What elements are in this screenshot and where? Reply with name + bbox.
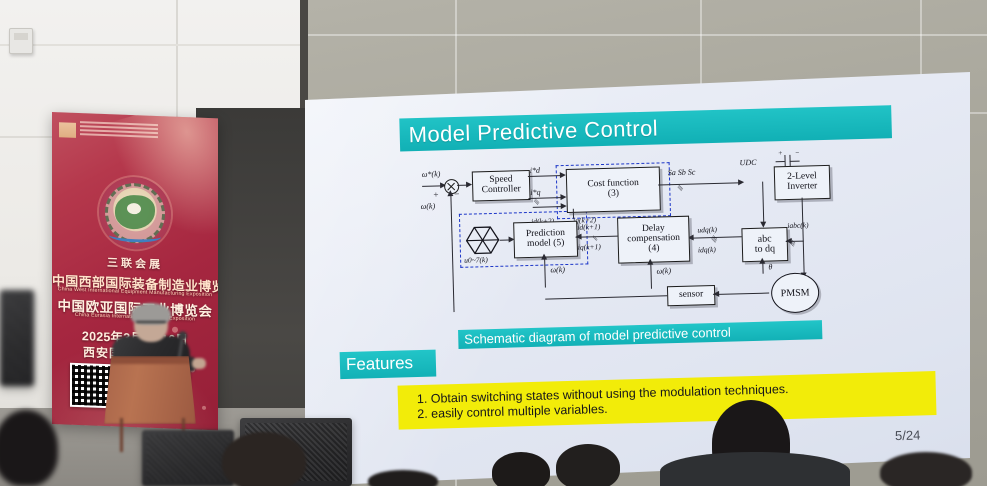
wire bbox=[650, 261, 652, 289]
audience-head bbox=[556, 444, 620, 486]
features-header-bar: Features bbox=[340, 350, 437, 380]
arrow-icon bbox=[647, 259, 653, 265]
block-cost-function: Cost function (3) bbox=[566, 166, 661, 213]
diagram-caption: Schematic diagram of model predictive co… bbox=[464, 325, 731, 347]
features-highlight-box: 1. Obtain switching states without using… bbox=[398, 371, 937, 430]
slide-title-bar: Model Predictive Control bbox=[399, 105, 892, 151]
audience-head bbox=[222, 432, 306, 486]
ufi-caption-lines bbox=[80, 121, 158, 140]
label-iq-pred: iq(k+1) bbox=[578, 242, 601, 252]
wire bbox=[545, 295, 667, 300]
podium bbox=[104, 356, 196, 424]
block-speed-controller: Speed Controller bbox=[472, 170, 531, 202]
banner-bokeh bbox=[202, 406, 206, 410]
label-omega-pred: ω(k) bbox=[550, 265, 565, 274]
wire bbox=[658, 182, 742, 186]
voltage-vector-hexagon-icon bbox=[465, 225, 500, 256]
label-id-pred: id(k+1) bbox=[577, 222, 600, 232]
presenter-glasses bbox=[136, 321, 166, 330]
block-sensor: sensor bbox=[667, 285, 716, 306]
arrow-icon bbox=[786, 237, 792, 243]
presenter-hand bbox=[192, 358, 206, 369]
label-id-ref: i*d bbox=[530, 166, 540, 175]
block-2-level-inverter: 2-Level Inverter bbox=[774, 165, 831, 201]
arrow-icon bbox=[713, 290, 719, 296]
podium-leg bbox=[120, 418, 123, 452]
label-u-dq: udq(k) bbox=[697, 225, 717, 235]
wire bbox=[450, 192, 455, 312]
podium-top bbox=[100, 356, 200, 364]
label-omega-delay: ω(k) bbox=[656, 266, 671, 275]
slide-title: Model Predictive Control bbox=[408, 115, 658, 148]
label-speed-feedback: ω(k) bbox=[421, 202, 436, 211]
page-indicator: 5/24 bbox=[895, 427, 921, 443]
label-plus-sign: + bbox=[433, 189, 438, 199]
audience-head bbox=[492, 452, 550, 486]
ufi-mark-icon bbox=[59, 122, 76, 138]
wire bbox=[802, 198, 805, 278]
wall-sensor-box bbox=[9, 28, 33, 54]
label-voltage-vectors: u0~7(k) bbox=[464, 255, 488, 265]
audience-shoulders bbox=[660, 452, 850, 486]
label-speed-ref: ω*(k) bbox=[422, 169, 441, 178]
label-i-dq: idq(k) bbox=[698, 245, 716, 254]
label-iq-ref: i*q bbox=[530, 188, 540, 197]
wire bbox=[762, 182, 764, 226]
label-dc-link: UDC bbox=[739, 158, 756, 167]
emblem-wave bbox=[109, 229, 161, 243]
bus-slash-icon: /// bbox=[675, 185, 685, 192]
wall-panel-line bbox=[300, 34, 987, 36]
line-array-speaker bbox=[0, 290, 34, 386]
wire bbox=[573, 209, 575, 219]
arrow-icon bbox=[447, 190, 453, 196]
presentation-slide: Model Predictive Control ω*(k) + − ω(k) … bbox=[305, 54, 981, 486]
ufi-logo bbox=[59, 119, 159, 145]
block-delay-compensation: Delay compensation (4) bbox=[617, 216, 690, 264]
audience-head bbox=[368, 470, 438, 486]
block-pmsm: PMSM bbox=[771, 272, 820, 313]
stage-monitor-speaker bbox=[142, 430, 234, 486]
arrow-icon bbox=[541, 254, 547, 260]
audience-head bbox=[880, 452, 972, 486]
conference-photo: 三联会展 中国西部国际装备制造业博览会 China West Internati… bbox=[0, 0, 987, 486]
wall-seam bbox=[0, 44, 308, 46]
audience-head bbox=[0, 410, 58, 486]
bus-slash-icon: /// bbox=[532, 199, 542, 206]
diagram-caption-bar: Schematic diagram of model predictive co… bbox=[458, 320, 822, 349]
arrow-icon bbox=[738, 179, 744, 185]
label-i-abc: iabc(k) bbox=[787, 220, 808, 230]
arrow-icon bbox=[759, 258, 765, 264]
features-header: Features bbox=[346, 353, 414, 375]
emblem-center-dot bbox=[127, 203, 141, 215]
block-diagram: ω*(k) + − ω(k) Speed Controller i*d i*q bbox=[420, 152, 904, 325]
arrow-icon bbox=[575, 233, 581, 239]
wire bbox=[713, 293, 769, 296]
label-switching-states: Sa Sb Sc bbox=[668, 167, 696, 177]
label-theta: θ bbox=[768, 262, 772, 271]
